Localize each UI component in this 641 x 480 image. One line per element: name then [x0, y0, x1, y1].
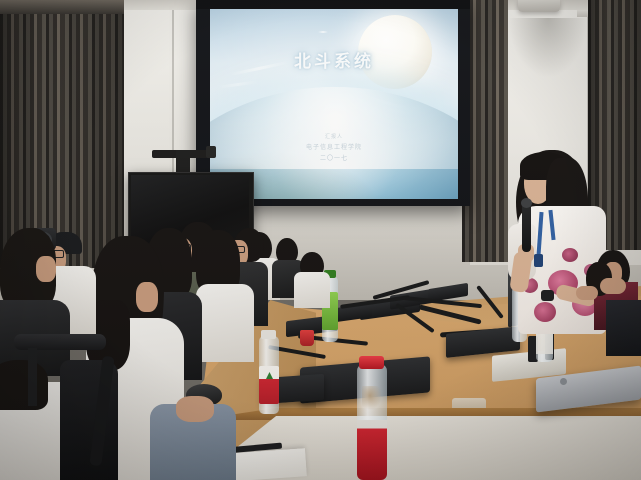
wall-shadow — [508, 18, 588, 78]
microphone-head-icon — [521, 198, 532, 208]
projector-glare — [210, 9, 458, 199]
bottle-cap — [359, 356, 384, 369]
projection-screen: 北斗系统 汇报人 电子信息工程学院 二〇一七 — [210, 9, 458, 199]
bottle-cap — [261, 330, 276, 339]
wristwatch — [541, 290, 554, 301]
curtain-rail — [0, 0, 124, 14]
laptop-logo-icon — [560, 378, 567, 385]
bottle-label — [259, 366, 279, 404]
wall-fixture-icon — [518, 0, 560, 12]
id-badge — [534, 254, 543, 267]
floral-pattern — [562, 248, 578, 262]
bottle-label — [357, 420, 387, 480]
attendee-torso — [294, 272, 330, 308]
photo-scene: 北斗系统 汇报人 电子信息工程学院 二〇一七 — [0, 0, 641, 480]
typing-hand — [600, 278, 626, 294]
red-cup — [300, 330, 314, 346]
chair-leg — [28, 348, 37, 406]
curtain-shading — [0, 0, 124, 268]
typing-hand — [576, 286, 598, 300]
bottle-contents — [362, 386, 382, 410]
chair — [606, 300, 641, 356]
microphone — [522, 202, 531, 252]
floral-pattern — [534, 302, 556, 322]
attendee-torso — [196, 284, 254, 362]
wall-seam — [172, 0, 174, 190]
attendee-hands — [176, 396, 214, 422]
attendee-face — [36, 256, 56, 282]
screen-top-casing — [196, 0, 470, 9]
tv-mount-knob — [206, 146, 216, 158]
attendee-hair — [0, 360, 48, 410]
attendee-hand — [136, 282, 158, 312]
